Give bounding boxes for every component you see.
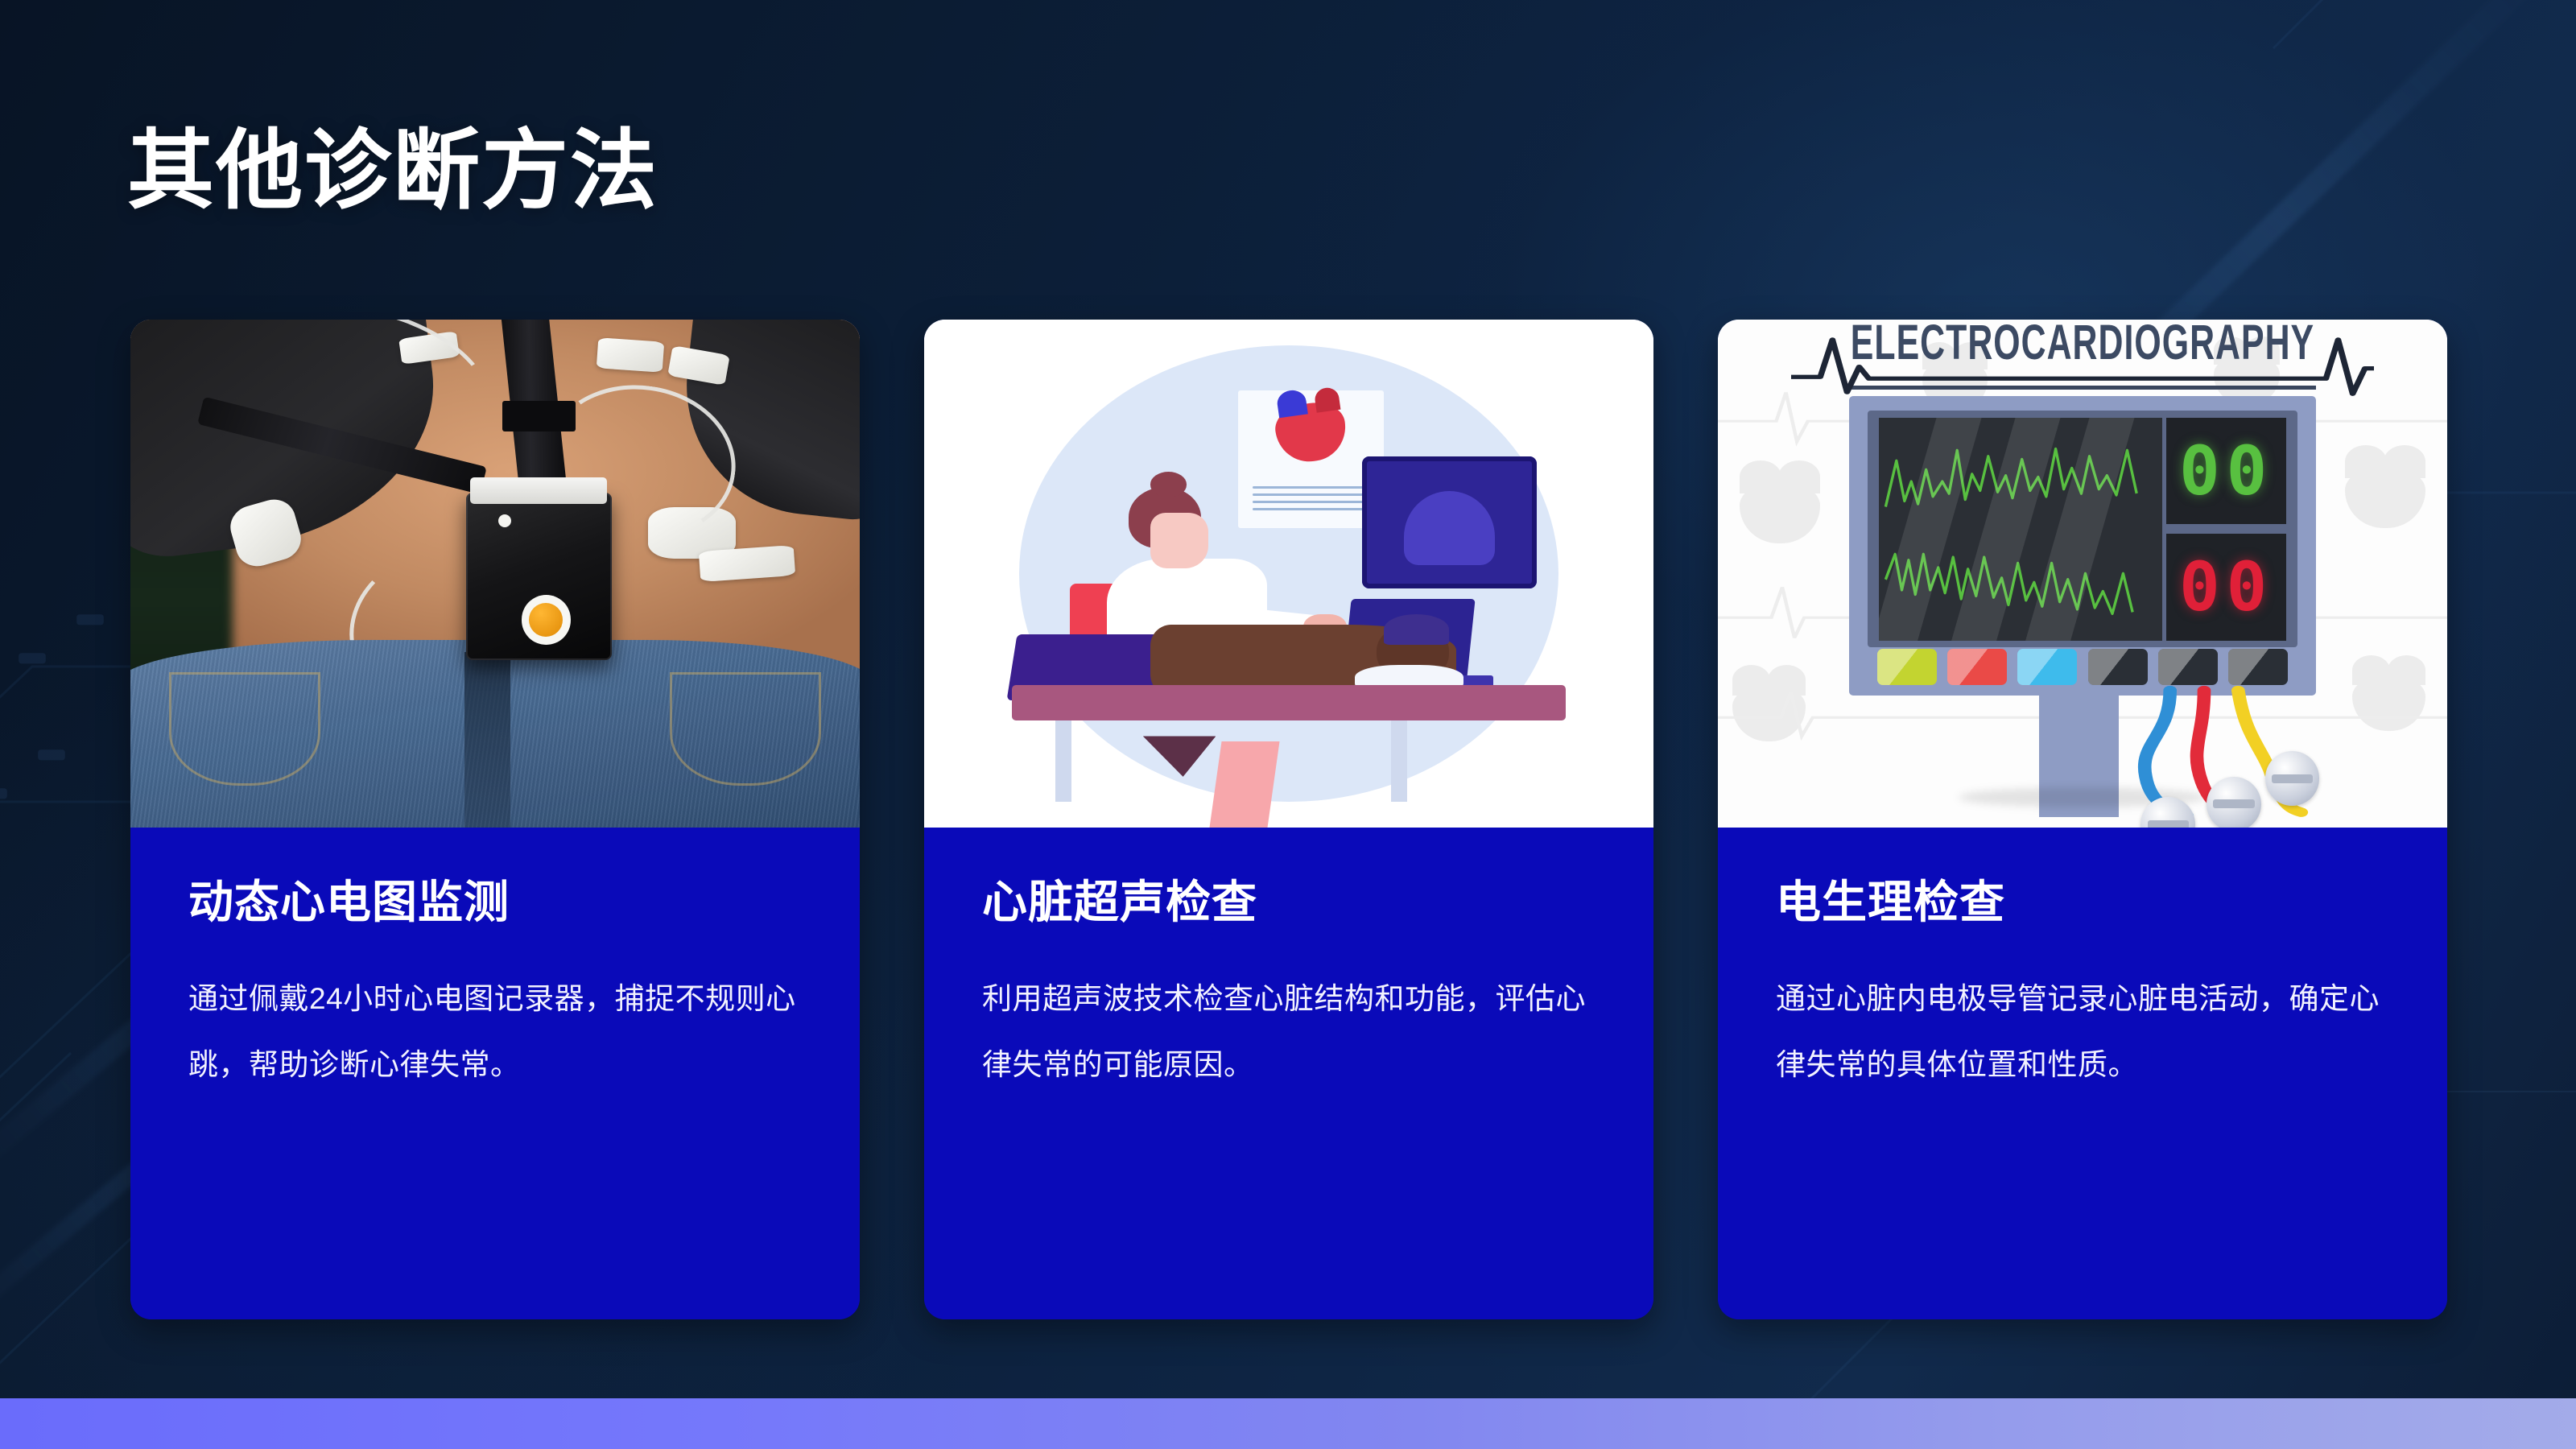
card-grid: 动态心电图监测 通过佩戴24小时心电图记录器，捕捉不规则心跳，帮助诊断心律失常。	[130, 320, 2447, 1319]
slide-canvas: 其他诊断方法	[0, 0, 2576, 1449]
echo-doctor-face	[1150, 513, 1208, 568]
card-title-echo: 心脏超声检查	[982, 877, 1596, 927]
holter-monitor-photo	[130, 320, 860, 828]
card-title-holter: 动态心电图监测	[188, 877, 802, 927]
echo-patient-cap	[1384, 614, 1450, 645]
page-title: 其他诊断方法	[127, 119, 658, 221]
echo-bed-leg-right	[1391, 720, 1407, 802]
card-holter-monitoring[interactable]: 动态心电图监测 通过佩戴24小时心电图记录器，捕捉不规则心跳，帮助诊断心律失常。	[130, 320, 860, 1319]
echo-poster-text-lines	[1253, 486, 1369, 515]
photo-electrode-pad-2	[597, 337, 664, 372]
heart-anatomy-icon	[1272, 398, 1349, 465]
card-body-echo: 心脏超声检查 利用超声波技术检查心脏结构和功能，评估心律失常的可能原因。	[924, 828, 1653, 1319]
echo-exam-bed	[1012, 685, 1567, 720]
ecg-electrode-pad-2	[2207, 777, 2261, 828]
card-electrophysiology[interactable]: ELECTROCARDIOGRAPHY	[1718, 320, 2447, 1319]
ecg-electrode-pad-3	[2265, 751, 2320, 806]
photo-tape-strip	[698, 545, 795, 582]
photo-strap-buckle	[502, 401, 576, 431]
photo-device-event-button	[522, 595, 572, 645]
photo-jeans-pocket-right	[670, 672, 821, 786]
photo-device-led	[498, 514, 511, 527]
card-echocardiography[interactable]: 心脏超声检查 利用超声波技术检查心脏结构和功能，评估心律失常的可能原因。	[924, 320, 1653, 1319]
photo-jeans-pocket-left	[169, 672, 320, 786]
card-title-electrophysiology: 电生理检查	[1776, 877, 2389, 927]
card-description-echo: 利用超声波技术检查心脏结构和功能，评估心律失常的可能原因。	[982, 966, 1596, 1098]
card-description-holter: 通过佩戴24小时心电图记录器，捕捉不规则心跳，帮助诊断心律失常。	[188, 966, 802, 1098]
card-description-electrophysiology: 通过心脏内电极导管记录心脏电活动，确定心律失常的具体位置和性质。	[1776, 966, 2389, 1098]
photo-jeans	[130, 640, 860, 828]
echo-doctor-hair-bun	[1150, 472, 1187, 497]
ecg-lead-cables	[1718, 320, 2447, 828]
echo-bed-leg-left	[1055, 720, 1071, 802]
echo-floor-accent	[1210, 741, 1281, 828]
card-body-holter: 动态心电图监测 通过佩戴24小时心电图记录器，捕捉不规则心跳，帮助诊断心律失常。	[130, 828, 860, 1319]
photo-holter-device	[466, 493, 612, 660]
bottom-accent-bar	[0, 1398, 2576, 1449]
card-media-holter-photo	[130, 320, 860, 828]
card-media-ecg-illustration: ELECTROCARDIOGRAPHY	[1718, 320, 2447, 828]
ecg-machine-illustration: ELECTROCARDIOGRAPHY	[1718, 320, 2447, 828]
photo-device-connector	[470, 477, 607, 504]
echocardiogram-illustration	[924, 320, 1653, 828]
card-media-echo-illustration	[924, 320, 1653, 828]
card-body-electrophysiology: 电生理检查 通过心脏内电极导管记录心脏电活动，确定心律失常的具体位置和性质。	[1718, 828, 2447, 1319]
ultrasound-monitor-screen	[1362, 456, 1537, 588]
